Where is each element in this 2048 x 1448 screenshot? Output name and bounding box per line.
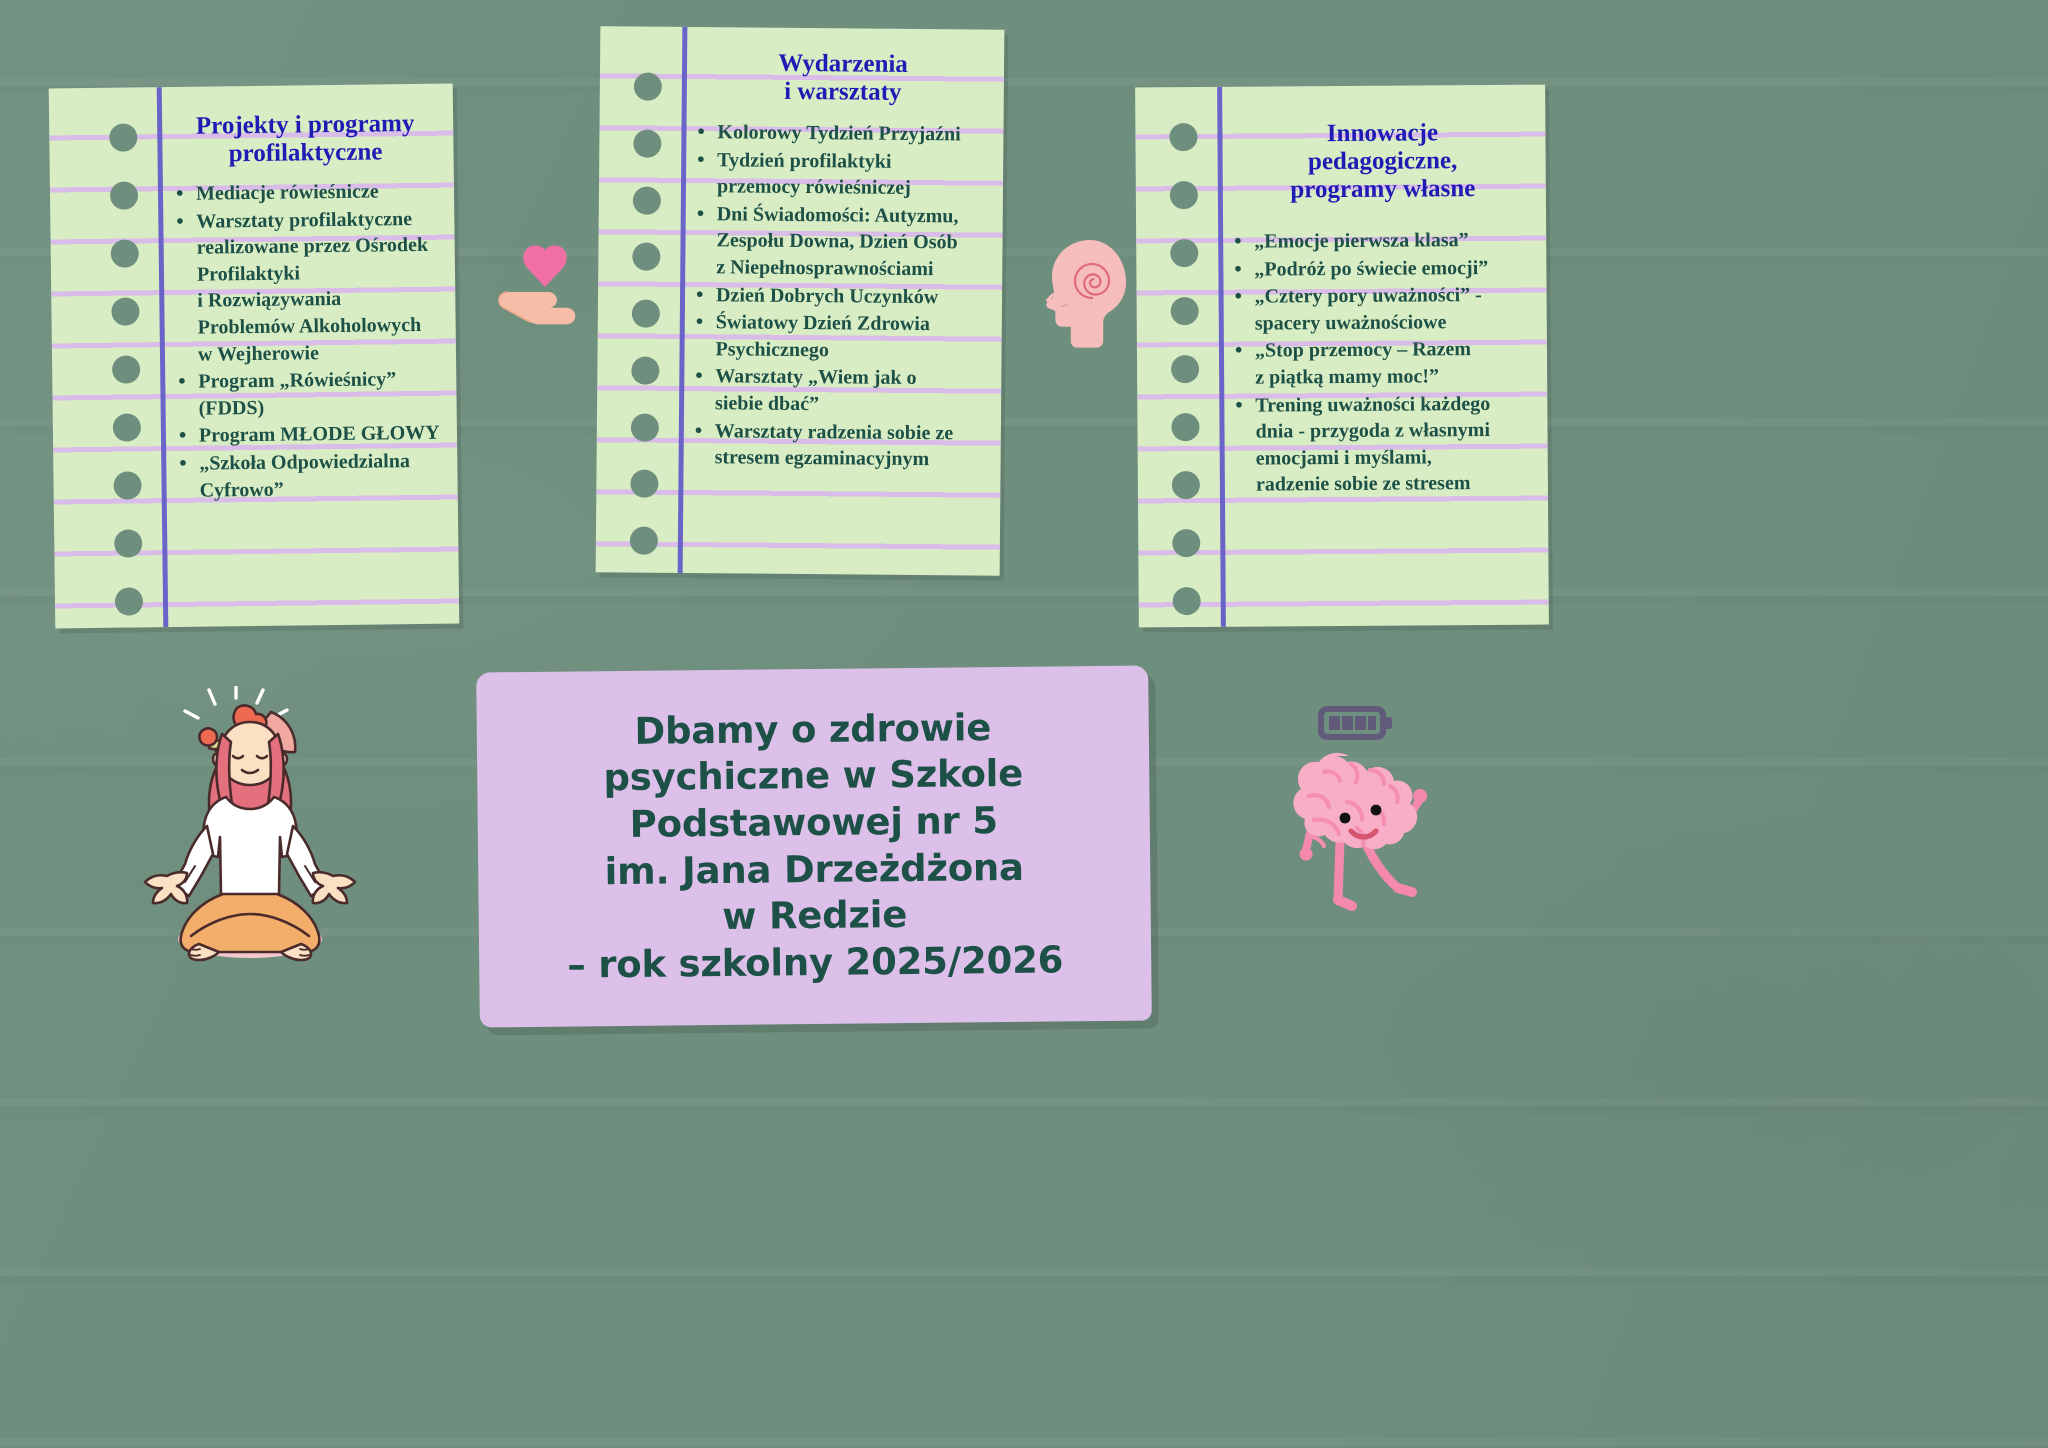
main-banner: Dbamy o zdrowie psychiczne w Szkole Pods…: [476, 665, 1152, 1027]
list-item: Dzień Dobrych Uczynków: [694, 282, 988, 311]
list-item: Kolorowy Tydzień Przyjaźni: [695, 119, 989, 148]
meditating-person-illustration: [95, 686, 405, 976]
banner-title: Dbamy o zdrowie psychiczne w Szkole Pods…: [565, 704, 1064, 989]
card-title-projects: Projekty i programy profilaktyczne: [173, 110, 438, 169]
list-item: Warsztaty profilaktyczne realizowane prz…: [174, 205, 440, 368]
list-item: Światowy Dzień Zdrowia Psychicznego: [693, 309, 987, 365]
list-item: Program MŁODE GŁOWY: [177, 420, 441, 450]
list-item: Warsztaty „Wiem jak o siebie dbać”: [693, 363, 987, 419]
list-item: Program „Rówieśnicy” (FDDS): [176, 366, 441, 422]
list-item: Trening uważności każdego dnia - przygod…: [1233, 390, 1536, 498]
walking-brain-illustration: [1252, 700, 1502, 970]
card-title-innovations: Innowacje pedagogiczne, programy własne: [1231, 119, 1534, 205]
list-item: „Cztery pory uważności” - spacery uważno…: [1232, 282, 1534, 337]
list-item: „Emocje pierwsza klasa”: [1232, 227, 1534, 256]
card-title-events: Wydarzenia i warsztaty: [696, 49, 990, 108]
list-item: „Podróż po świecie emocji”: [1232, 254, 1534, 283]
card-list-events: Kolorowy Tydzień Przyjaźni Tydzień profi…: [693, 119, 990, 473]
note-card-projects: Projekty i programy profilaktyczne Media…: [49, 84, 460, 629]
card-list-innovations: „Emocje pierwsza klasa” „Podróż po świec…: [1232, 227, 1536, 499]
note-card-events: Wydarzenia i warsztaty Kolorowy Tydzień …: [596, 26, 1005, 576]
list-item: „Szkoła Odpowiedzialna Cyfrowo”: [177, 448, 442, 504]
head-spiral-icon: [1028, 232, 1140, 350]
card-list-projects: Mediacje rówieśnicze Warsztaty profilakt…: [174, 178, 442, 504]
list-item: Warsztaty radzenia sobie ze stresem egza…: [693, 418, 987, 474]
note-card-innovations: Innowacje pedagogiczne, programy własne …: [1135, 85, 1549, 628]
list-item: Mediacje rówieśnicze: [174, 178, 438, 208]
list-item: „Stop przemocy – Razem z piątką mamy moc…: [1233, 336, 1535, 391]
full-battery-icon: [1321, 709, 1392, 737]
list-item: Tydzień profilaktyki przemocy rówieśnicz…: [695, 147, 989, 203]
list-item: Dni Świadomości: Autyzmu, Zespołu Downa,…: [694, 201, 989, 283]
heart-in-hand-icon: [489, 233, 601, 345]
